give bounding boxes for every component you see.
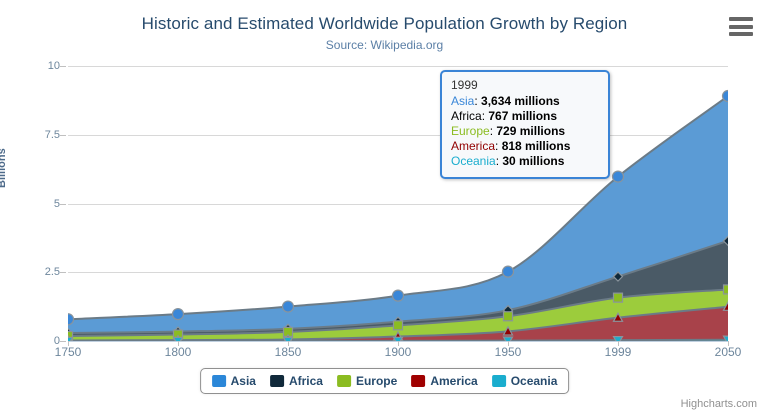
legend-item-america[interactable]: America bbox=[411, 374, 477, 388]
tooltip-year: 1999 bbox=[451, 78, 599, 92]
legend-item-asia[interactable]: Asia bbox=[212, 374, 256, 388]
data-point[interactable] bbox=[394, 321, 403, 330]
data-point[interactable] bbox=[503, 266, 514, 277]
legend-swatch-africa bbox=[270, 375, 284, 387]
legend-swatch-america bbox=[411, 375, 425, 387]
legend-label: Africa bbox=[289, 374, 323, 388]
legend-item-europe[interactable]: Europe bbox=[337, 374, 397, 388]
x-axis-tick-mark bbox=[508, 341, 509, 346]
x-axis-tick-mark bbox=[68, 341, 69, 346]
x-axis-tick-label: 1999 bbox=[605, 345, 632, 359]
data-point[interactable] bbox=[283, 301, 294, 312]
y-axis-tick-label: 5 bbox=[8, 198, 60, 210]
data-point[interactable] bbox=[613, 171, 624, 182]
x-axis-tick-mark bbox=[728, 341, 729, 346]
data-point[interactable] bbox=[173, 309, 184, 320]
y-axis-title: Billions bbox=[0, 148, 8, 188]
x-axis-tick-label: 1950 bbox=[495, 345, 522, 359]
highcharts-container: Historic and Estimated Worldwide Populat… bbox=[0, 0, 769, 416]
y-axis-tick-mark bbox=[60, 204, 66, 205]
x-axis-tick-mark bbox=[398, 341, 399, 346]
legend-label: Europe bbox=[356, 374, 397, 388]
tooltip-series-value: 818 millions bbox=[502, 139, 571, 153]
y-axis-tick-label: 7.5 bbox=[8, 129, 60, 141]
y-axis-tick-mark bbox=[60, 341, 66, 342]
tooltip-row: Africa: 767 millions bbox=[451, 109, 599, 124]
y-axis-tick-label: 0 bbox=[8, 335, 60, 347]
chart-subtitle: Source: Wikipedia.org bbox=[0, 38, 769, 52]
x-axis-tick-label: 2050 bbox=[715, 345, 742, 359]
tooltip-row: Asia: 3,634 millions bbox=[451, 94, 599, 109]
x-axis-tick-mark bbox=[288, 341, 289, 346]
credits-link[interactable]: Highcharts.com bbox=[681, 398, 757, 410]
data-point[interactable] bbox=[68, 314, 74, 325]
tooltip-series-value: 767 millions bbox=[488, 109, 557, 123]
stacked-area-series bbox=[68, 66, 728, 341]
data-point[interactable] bbox=[614, 293, 623, 302]
plot-area bbox=[68, 66, 728, 341]
data-point[interactable] bbox=[724, 285, 729, 294]
legend-swatch-oceania bbox=[492, 375, 506, 387]
data-point[interactable] bbox=[393, 290, 404, 301]
menu-bar-2 bbox=[729, 25, 753, 29]
tooltip-series-name: Oceania bbox=[451, 154, 496, 168]
tooltip-series-value: 30 millions bbox=[502, 154, 564, 168]
legend-label: America bbox=[430, 374, 477, 388]
tooltip-series-name: Asia bbox=[451, 94, 474, 108]
legend-item-africa[interactable]: Africa bbox=[270, 374, 323, 388]
tooltip-series-name: America bbox=[451, 139, 495, 153]
x-axis-tick-label: 1850 bbox=[275, 345, 302, 359]
hamburger-menu-icon[interactable] bbox=[729, 17, 753, 36]
y-axis-tick-label: 10 bbox=[8, 60, 60, 72]
legend-item-oceania[interactable]: Oceania bbox=[492, 374, 558, 388]
menu-bar-1 bbox=[729, 17, 753, 21]
legend-label: Oceania bbox=[511, 374, 558, 388]
x-axis-tick-label: 1800 bbox=[165, 345, 192, 359]
tooltip-series-name: Africa bbox=[451, 109, 482, 123]
data-point[interactable] bbox=[504, 312, 513, 321]
data-point[interactable] bbox=[723, 91, 729, 102]
y-axis-tick-mark bbox=[60, 272, 66, 273]
menu-bar-3 bbox=[729, 32, 753, 36]
x-axis-tick-mark bbox=[178, 341, 179, 346]
tooltip-series-value: 729 millions bbox=[496, 124, 565, 138]
chart-title: Historic and Estimated Worldwide Populat… bbox=[0, 14, 769, 34]
tooltip: 1999 Asia: 3,634 millionsAfrica: 767 mil… bbox=[440, 70, 610, 179]
legend-label: Asia bbox=[231, 374, 256, 388]
tooltip-rows: Asia: 3,634 millionsAfrica: 767 millions… bbox=[451, 94, 599, 169]
legend-swatch-asia bbox=[212, 375, 226, 387]
legend-swatch-europe bbox=[337, 375, 351, 387]
x-axis-tick-label: 1900 bbox=[385, 345, 412, 359]
y-axis-tick-label: 2.5 bbox=[8, 266, 60, 278]
tooltip-separator: : bbox=[495, 139, 502, 153]
x-axis-tick-mark bbox=[618, 341, 619, 346]
y-axis-tick-mark bbox=[60, 66, 66, 67]
tooltip-row: Europe: 729 millions bbox=[451, 124, 599, 139]
tooltip-series-name: Europe bbox=[451, 124, 490, 138]
x-axis-tick-label: 1750 bbox=[55, 345, 82, 359]
tooltip-separator: : bbox=[474, 94, 481, 108]
legend: AsiaAfricaEuropeAmericaOceania bbox=[200, 368, 570, 394]
y-axis-tick-mark bbox=[60, 135, 66, 136]
tooltip-row: America: 818 millions bbox=[451, 139, 599, 154]
tooltip-series-value: 3,634 millions bbox=[481, 94, 560, 108]
tooltip-row: Oceania: 30 millions bbox=[451, 154, 599, 169]
